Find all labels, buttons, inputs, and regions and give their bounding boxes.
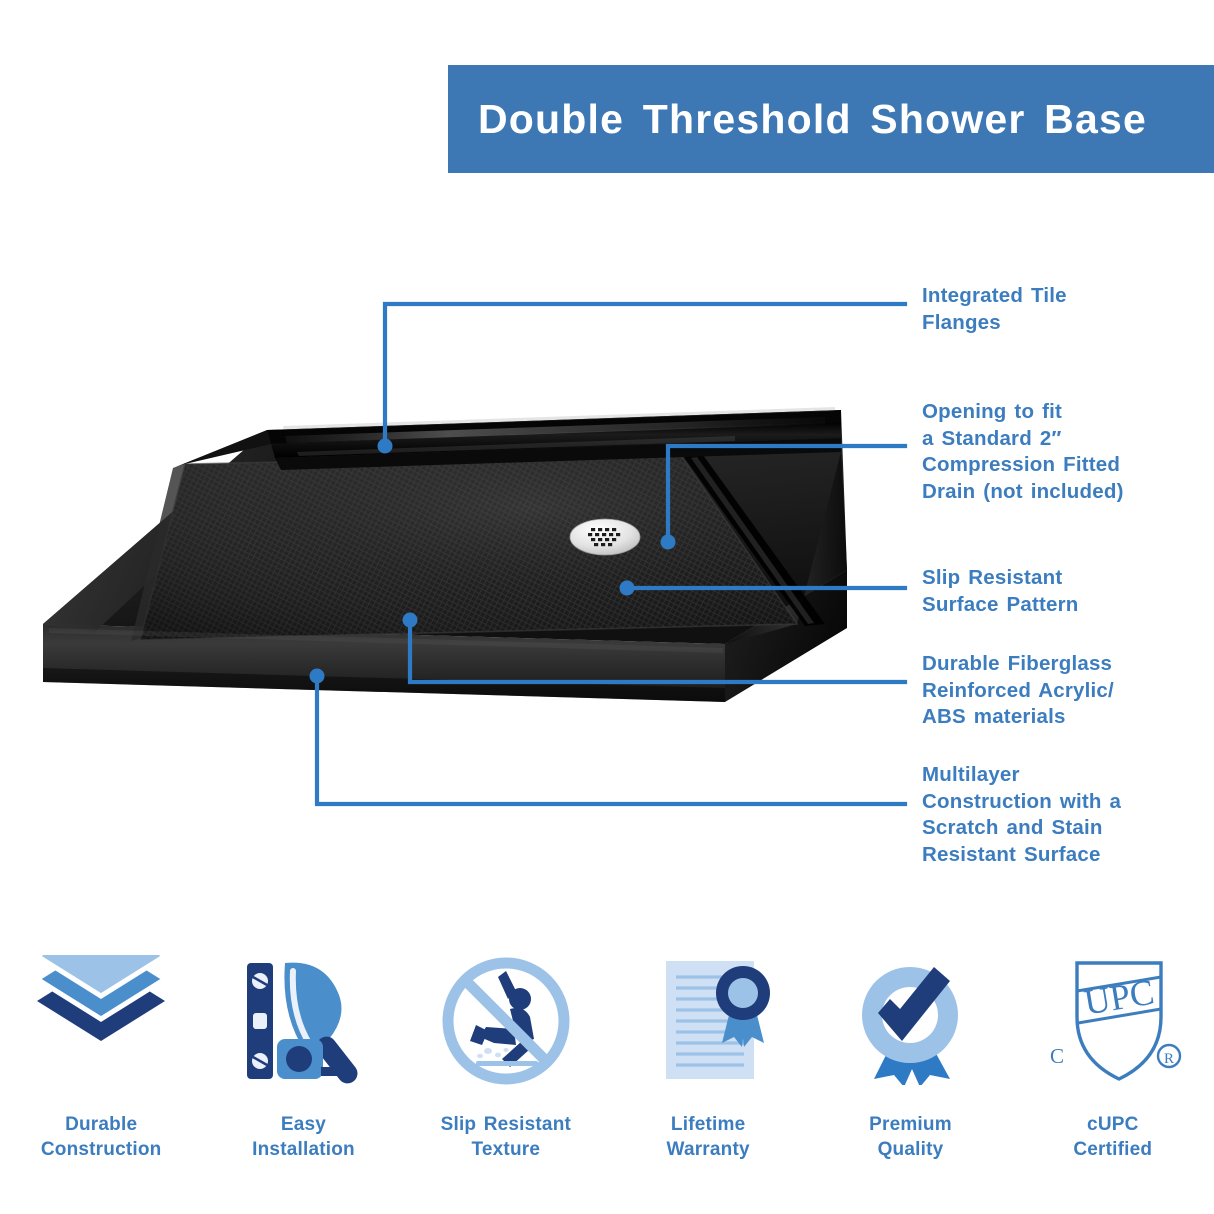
feature-durable-construction: Durable Construction [0, 950, 202, 1190]
header-banner: Double Threshold Shower Base [448, 65, 1214, 173]
product-image [35, 392, 850, 702]
check-ribbon-icon [835, 950, 985, 1090]
layers-icon [26, 950, 176, 1090]
callout-drain-opening: Opening to fit a Standard 2″ Compression… [922, 399, 1124, 505]
upc-shield-icon: UPC C R [1038, 950, 1188, 1090]
feature-label: Slip Resistant Texture [441, 1112, 571, 1162]
feature-easy-installation: Easy Installation [202, 950, 404, 1190]
callout-integrated-tile-flanges: Integrated Tile Flanges [922, 283, 1067, 336]
drain-grate [570, 519, 640, 555]
upc-text: UPC [1081, 972, 1157, 1023]
callout-durable-materials: Durable Fiberglass Reinforced Acrylic/ A… [922, 651, 1114, 731]
page-title: Double Threshold Shower Base [448, 96, 1147, 143]
feature-badges-row: Durable Construction [0, 950, 1214, 1190]
feature-premium-quality: Premium Quality [809, 950, 1011, 1190]
callout-slip-resistant-surface: Slip Resistant Surface Pattern [922, 565, 1079, 618]
feature-slip-resistant: Slip Resistant Texture [405, 950, 607, 1190]
feature-lifetime-warranty: Lifetime Warranty [607, 950, 809, 1190]
feature-label: Premium Quality [869, 1112, 952, 1162]
feature-label: Easy Installation [252, 1112, 355, 1162]
infographic-canvas: Double Threshold Shower Base [0, 0, 1214, 1214]
feature-label: cUPC Certified [1073, 1112, 1152, 1162]
feature-label: Durable Construction [41, 1112, 162, 1162]
callout-multilayer-construction: Multilayer Construction with a Scratch a… [922, 762, 1121, 868]
feature-label: Lifetime Warranty [667, 1112, 750, 1162]
certificate-icon [633, 950, 783, 1090]
feature-cupc-certified: UPC C R cUPC Certified [1012, 950, 1214, 1190]
upc-prefix-c: C [1050, 1044, 1064, 1068]
registered-mark: R [1164, 1051, 1174, 1067]
shower-base-illustration [35, 392, 850, 702]
no-slip-icon [431, 950, 581, 1090]
trowel-level-icon [228, 950, 378, 1090]
